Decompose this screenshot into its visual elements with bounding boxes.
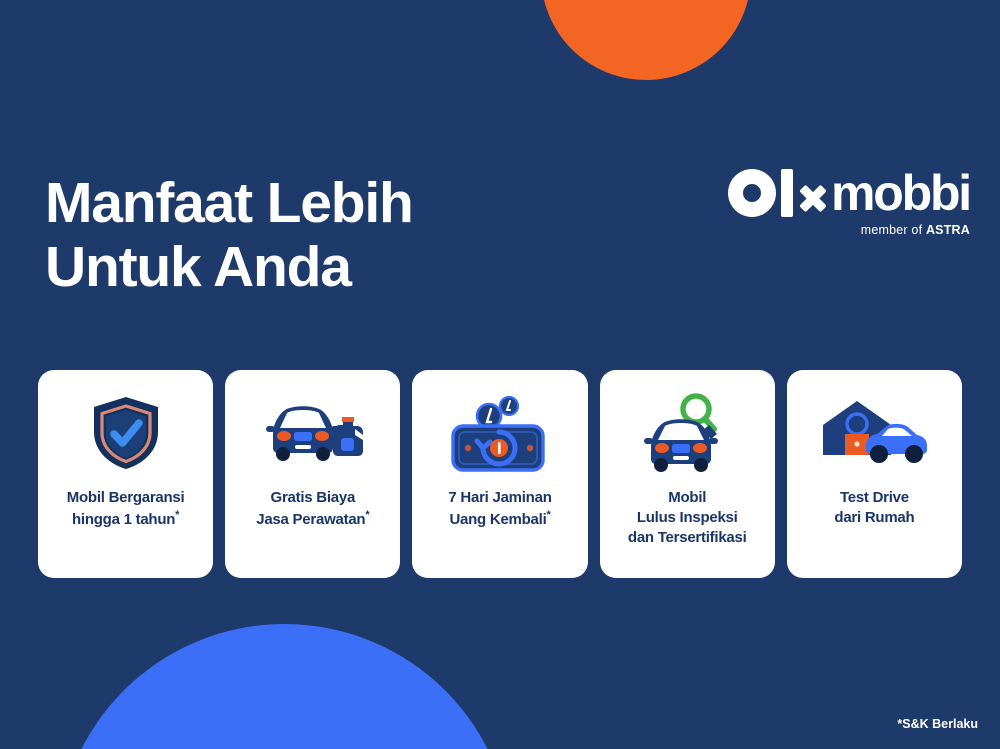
benefit-card-free-service[interactable]: Gratis Biaya Jasa Perawatan* <box>225 370 400 578</box>
benefit-label-line-1: Gratis Biaya <box>256 488 369 508</box>
decorative-orange-circle <box>541 0 751 80</box>
benefit-label-line-2: hingga 1 tahun <box>72 511 175 528</box>
benefit-card-label: Mobil Lulus Inspeksi dan Tersertifikasi <box>620 488 755 548</box>
car-oil-bottle-icon <box>225 370 400 488</box>
money-refund-icon <box>412 370 587 488</box>
page-title-line-1: Manfaat Lebih <box>45 172 413 236</box>
benefit-card-home-test-drive[interactable]: Test Drive dari Rumah <box>787 370 962 578</box>
benefit-card-label: Gratis Biaya Jasa Perawatan* <box>248 488 377 530</box>
benefit-label-line-1: Mobil Bergaransi <box>67 488 185 508</box>
promo-banner: Manfaat Lebih Untuk Anda mobbi member of… <box>0 0 1000 749</box>
terms-footnote: *S&K Berlaku <box>897 717 978 731</box>
brand-wordmark: mobbi <box>728 168 970 218</box>
logo-x-icon <box>796 181 830 215</box>
asterisk-mark: * <box>547 509 551 521</box>
logo-o-icon <box>728 169 776 217</box>
benefit-label-line-2: Uang Kembali <box>449 511 546 528</box>
benefit-card-label: 7 Hari Jaminan Uang Kembali* <box>440 488 559 530</box>
brand-tagline-astra: ASTRA <box>926 223 970 237</box>
brand-tagline-prefix: member of <box>861 223 926 237</box>
brand-name: mobbi <box>831 169 970 217</box>
benefit-card-label: Mobil Bergaransi hingga 1 tahun* <box>59 488 193 530</box>
benefit-card-inspection[interactable]: Mobil Lulus Inspeksi dan Tersertifikasi <box>600 370 775 578</box>
benefit-label-line-1: 7 Hari Jaminan <box>448 488 551 508</box>
asterisk-mark: * <box>175 509 179 521</box>
page-title: Manfaat Lebih Untuk Anda <box>45 172 413 300</box>
benefit-card-warranty[interactable]: Mobil Bergaransi hingga 1 tahun* <box>38 370 213 578</box>
shield-check-icon <box>38 370 213 488</box>
benefit-label-line-2: dari Rumah <box>834 508 914 528</box>
benefit-label-line-2: Jasa Perawatan <box>256 511 365 528</box>
house-car-icon <box>787 370 962 488</box>
benefit-label-line-2: Lulus Inspeksi <box>628 508 747 528</box>
decorative-blue-circle <box>57 624 512 749</box>
benefit-card-label: Test Drive dari Rumah <box>826 488 922 528</box>
benefit-label-line-3: dan Tersertifikasi <box>628 528 747 548</box>
logo-bar-icon <box>781 169 793 217</box>
benefit-label-line-1: Mobil <box>628 488 747 508</box>
asterisk-mark: * <box>365 509 369 521</box>
benefit-card-row: Mobil Bergaransi hingga 1 tahun* <box>38 370 962 578</box>
page-title-line-2: Untuk Anda <box>45 236 413 300</box>
brand-tagline: member of ASTRA <box>728 223 970 237</box>
car-inspection-magnifier-icon <box>600 370 775 488</box>
benefit-card-money-back[interactable]: 7 Hari Jaminan Uang Kembali* <box>412 370 587 578</box>
brand-logo: mobbi member of ASTRA <box>728 168 970 237</box>
benefit-label-line-1: Test Drive <box>834 488 914 508</box>
